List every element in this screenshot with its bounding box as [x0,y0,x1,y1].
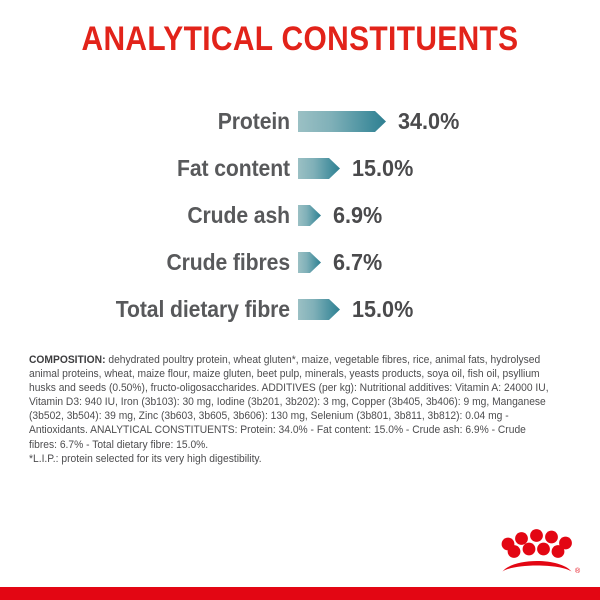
constituent-label: Total dietary fibre [23,296,290,323]
page-title: ANALYTICAL CONSTITUENTS [36,22,564,58]
constituent-label: Crude fibres [23,249,290,276]
constituent-value: 34.0% [398,108,459,135]
constituent-row: Protein 34.0% [0,98,600,145]
constituent-label: Protein [23,108,290,135]
constituent-value: 15.0% [352,296,413,323]
bottom-accent-bar [0,587,600,600]
composition-heading: COMPOSITION: [29,354,106,366]
constituent-bar [298,299,340,320]
constituent-value: 6.9% [333,202,382,229]
constituent-label: Fat content [23,155,290,182]
constituent-bar [298,205,321,226]
royal-canin-logo: ® [498,526,584,578]
analytical-constituents-chart: Protein 34.0% Fat content 15.0% Crude as… [0,98,600,333]
constituent-row: Total dietary fibre 15.0% [0,286,600,333]
constituent-label: Crude ash [23,202,290,229]
constituent-bar [298,252,321,273]
composition-footnote: *L.I.P.: protein selected for its very h… [29,453,262,465]
composition-body: dehydrated poultry protein, wheat gluten… [29,354,549,451]
constituent-bar [298,158,340,179]
constituent-value: 15.0% [352,155,413,182]
constituent-row: Fat content 15.0% [0,145,600,192]
crown-icon: ® [498,526,584,578]
constituent-row: Crude ash 6.9% [0,192,600,239]
composition-paragraph: COMPOSITION: dehydrated poultry protein,… [29,353,556,466]
constituent-value: 6.7% [333,249,382,276]
constituent-bar [298,111,386,132]
product-info-panel: ANALYTICAL CONSTITUENTS Protein 34.0% Fa… [0,0,600,600]
registered-trademark-mark: ® [575,567,581,575]
constituent-row: Crude fibres 6.7% [0,239,600,286]
